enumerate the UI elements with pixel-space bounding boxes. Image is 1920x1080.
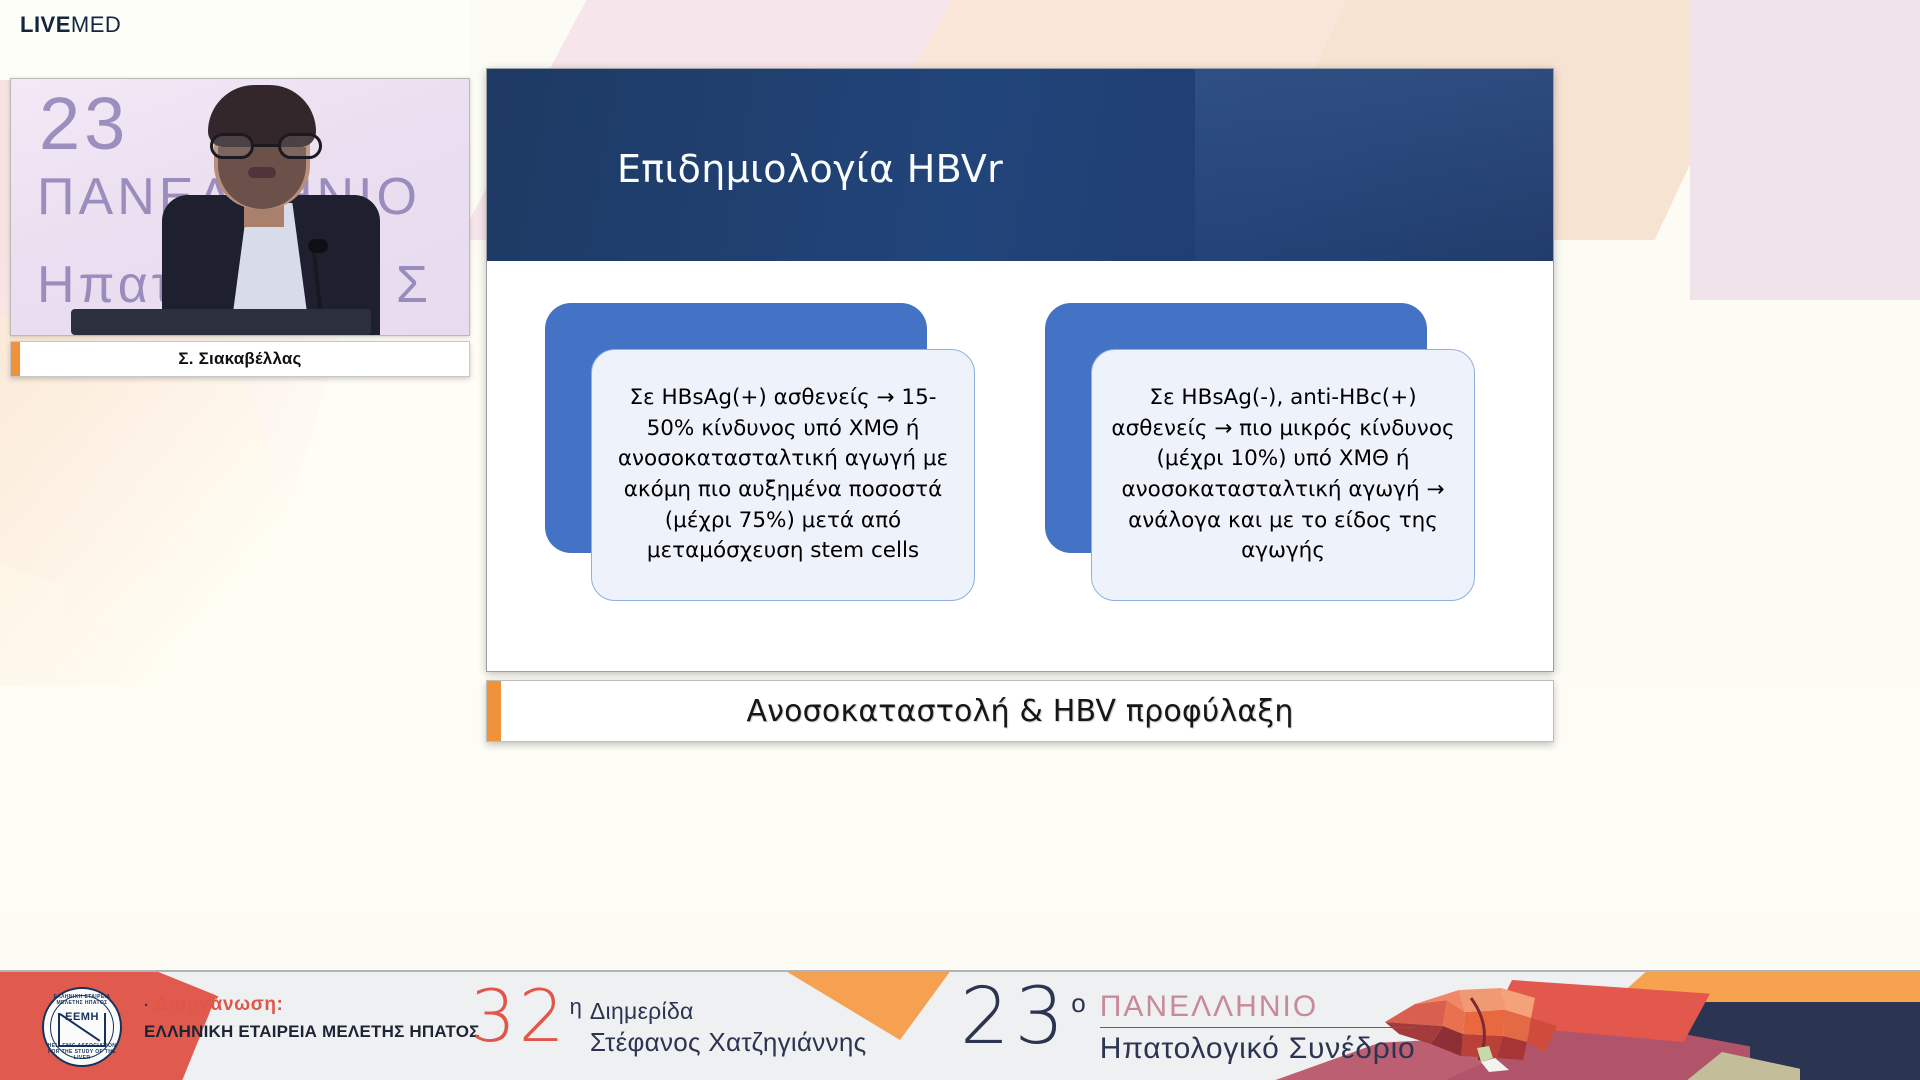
slide-footer-text: Ανοσοκαταστολή & HBV προφύλαξη <box>746 694 1293 729</box>
event-23-text: ΠΑΝΕΛΛΗΝΙΟ Ηπατολογικό Συνέδριο <box>1100 990 1416 1066</box>
livemed-logo[interactable]: LIVEMED <box>20 14 121 36</box>
presentation-slide[interactable]: Επιδημιολογία HBVr Σε HBsAg(+) ασθενείς … <box>486 68 1554 672</box>
speaker-name: Σ. Σιακαβέλλας <box>178 349 301 369</box>
card-body-right: Σε HBsAg(-), anti-HBc(+) ασθενείς → πιο … <box>1091 349 1475 601</box>
logo-arc-bottom-text: HELLENIC ASSOCIATION FOR THE STUDY OF TH… <box>42 1043 122 1061</box>
backdrop-number-23: 23 <box>39 81 129 166</box>
speaker-name-bar: Σ. Σιακαβέλλας <box>10 341 470 377</box>
event-23-line1: ΠΑΝΕΛΛΗΝΙΟ <box>1100 990 1416 1027</box>
glasses-lens-right <box>278 133 322 159</box>
speaker-mouth <box>248 167 276 178</box>
logo-med-text: MED <box>71 12 121 37</box>
slide-footer-banner: Ανοσοκαταστολή & HBV προφύλαξη <box>486 680 1554 742</box>
glasses-lens-left <box>210 133 254 159</box>
podium <box>71 309 371 335</box>
event-32-text: Διημερίδα Στέφανος Χατζηγιάννης <box>590 998 867 1058</box>
event-32-block: 32 η Διημερίδα Στέφανος Χατζηγιάννης <box>470 982 867 1058</box>
card-text-right: Σε HBsAg(-), anti-HBc(+) ασθενείς → πιο … <box>1106 383 1460 566</box>
slide-title: Επιδημιολογία HBVr <box>617 147 1003 191</box>
content-card-left: Σε HBsAg(+) ασθενείς → 15-50% κίνδυνος υ… <box>545 303 975 603</box>
event-23-superscript: ο <box>1071 988 1085 1019</box>
eemh-logo: ΕΛΛΗΝΙΚΗ ΕΤΑΙΡΕΙΑ ΜΕΛΕΤΗΣ ΗΠΑΤΟΣ EEMH HE… <box>42 987 122 1067</box>
event-32-line1: Διημερίδα <box>590 998 867 1025</box>
logo-live-text: LIVE <box>20 12 71 37</box>
logo-abbr-text: EEMH <box>42 1011 122 1023</box>
bullet-icon: · <box>144 997 150 1014</box>
bg-panel-lilac <box>1690 0 1920 300</box>
speaker-video-panel[interactable]: 23 ΠΑΝΕΛΛΗΝΙΟ Ηπατολογικό Σ <box>10 78 470 336</box>
organizer-name: ΕΛΛΗΝΙΚΗ ΕΤΑΙΡΕΙΑ ΜΕΛΕΤΗΣ ΗΠΑΤΟΣ <box>144 1022 480 1042</box>
organizer-label-row: · Διοργάνωση: <box>144 994 480 1016</box>
glasses-bridge <box>254 144 278 147</box>
glasses-icon <box>210 133 322 159</box>
event-23-number: 23 <box>960 980 1069 1054</box>
event-32-line2: Στέφανος Χατζηγιάννης <box>590 1027 867 1058</box>
microphone-icon <box>308 239 328 253</box>
card-body-left: Σε HBsAg(+) ασθενείς → 15-50% κίνδυνος υ… <box>591 349 975 601</box>
event-32-superscript: η <box>570 994 582 1020</box>
event-23-line2: Ηπατολογικό Συνέδριο <box>1100 1032 1416 1066</box>
card-text-left: Σε HBsAg(+) ασθενείς → 15-50% κίνδυνος υ… <box>606 383 960 566</box>
event-23-divider <box>1100 1027 1416 1028</box>
event-23-block: 23 ο ΠΑΝΕΛΛΗΝΙΟ Ηπατολογικό Συνέδριο <box>960 980 1416 1066</box>
event-32-number: 32 <box>470 982 568 1050</box>
screen-root: LIVEMED 23 ΠΑΝΕΛΛΗΝΙΟ Ηπατολογικό Σ Σ. <box>0 0 1920 1080</box>
conference-footer-bar: ΕΛΛΗΝΙΚΗ ΕΤΑΙΡΕΙΑ ΜΕΛΕΤΗΣ ΗΠΑΤΟΣ EEMH HE… <box>0 970 1920 1080</box>
speaker-figure <box>156 85 386 335</box>
organizer-label: Διοργάνωση: <box>155 994 284 1015</box>
organizer-block: · Διοργάνωση: ΕΛΛΗΝΙΚΗ ΕΤΑΙΡΕΙΑ ΜΕΛΕΤΗΣ … <box>144 994 480 1042</box>
liver-illustration-icon <box>1385 982 1595 1072</box>
logo-arc-top-text: ΕΛΛΗΝΙΚΗ ΕΤΑΙΡΕΙΑ ΜΕΛΕΤΗΣ ΗΠΑΤΟΣ <box>42 994 122 1006</box>
slide-content-area: Σε HBsAg(+) ασθενείς → 15-50% κίνδυνος υ… <box>487 261 1553 672</box>
content-card-right: Σε HBsAg(-), anti-HBc(+) ασθενείς → πιο … <box>1045 303 1475 603</box>
